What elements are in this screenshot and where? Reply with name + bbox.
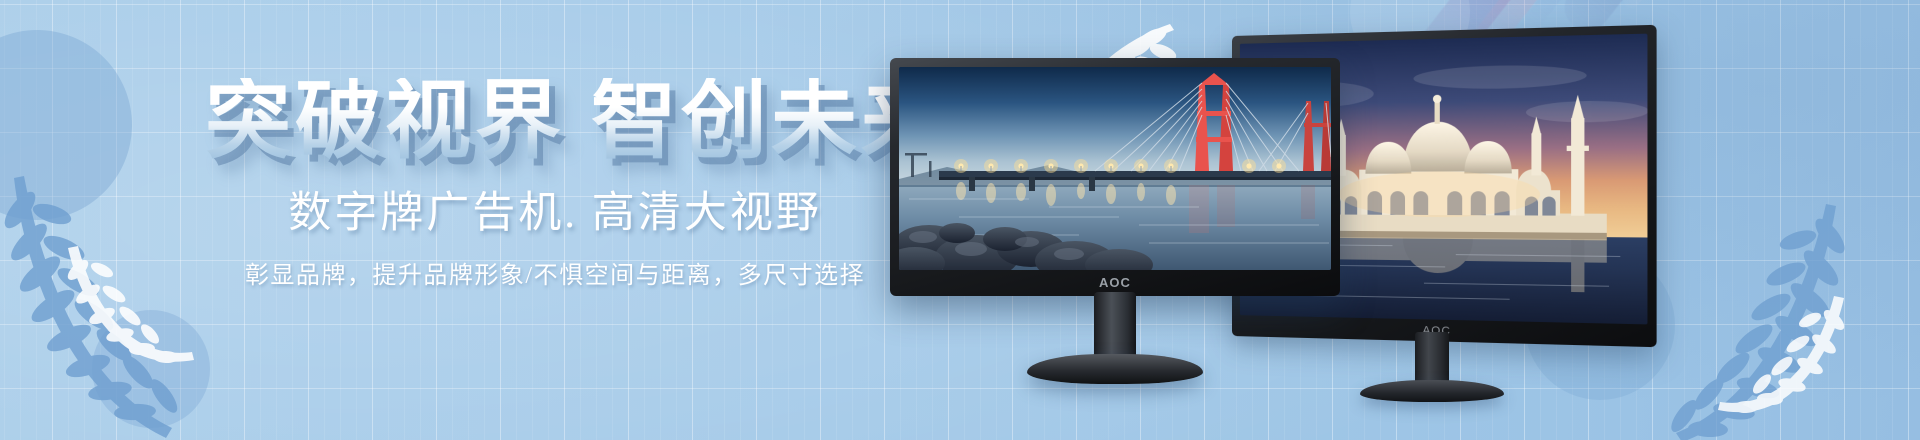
monitor-front-screen xyxy=(899,67,1331,270)
monitor-front-stand-neck xyxy=(1094,292,1136,360)
leaf-sprig-right-accent-icon xyxy=(1700,292,1850,417)
promo-banner: 突破视界智创未来 数字牌广告机. 高清大视野 彰显品牌，提升品牌形象/不惧空间与… xyxy=(0,0,1920,440)
leaf-sprig-right-icon xyxy=(1640,200,1860,440)
headline-part-1: 突破视界 xyxy=(205,73,565,169)
monitor-front-bezel: AOC xyxy=(890,58,1340,296)
monitor-front-stand-base xyxy=(1027,354,1203,384)
circle-decoration-bottom-left xyxy=(92,310,210,428)
leaf-sprig-left-accent-icon xyxy=(62,240,212,370)
leaf-sprig-left-icon xyxy=(0,170,220,440)
page-title: 突破视界智创未来 xyxy=(205,78,905,164)
tagline: 彰显品牌，提升品牌形象/不惧空间与距离，多尺寸选择 xyxy=(205,255,905,290)
circle-decoration-left xyxy=(0,30,132,220)
monitor-front: AOC xyxy=(890,58,1340,296)
monitor-back-stand-base xyxy=(1360,380,1504,402)
monitor-front-brand-logo: AOC xyxy=(890,275,1340,290)
subtitle: 数字牌广告机. 高清大视野 xyxy=(205,190,905,237)
